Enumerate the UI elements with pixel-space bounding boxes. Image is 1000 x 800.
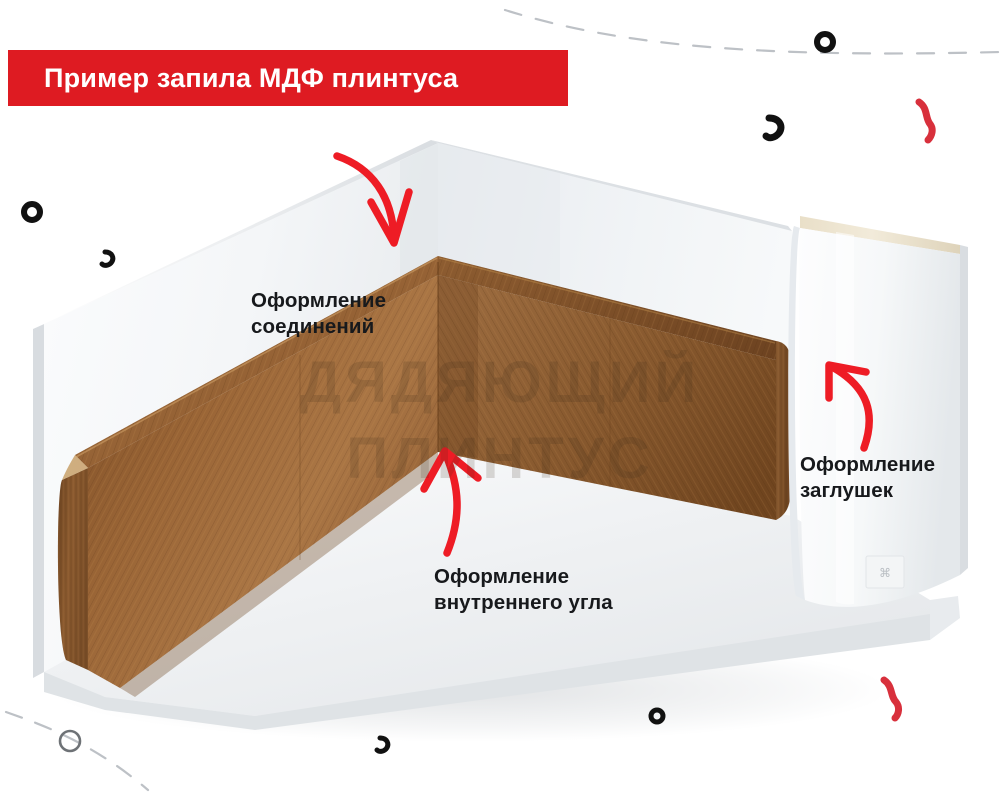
wall-left-thickness <box>33 324 44 678</box>
title-banner-text: Пример запила МДФ плинтуса <box>44 63 458 94</box>
title-banner: Пример запила МДФ плинтуса <box>8 50 568 106</box>
end-cap-sheen <box>836 232 854 604</box>
callout-label-inner-corner: Оформление внутреннего угла <box>434 564 613 615</box>
product-tag-mark: ⌘ <box>879 566 891 580</box>
end-cap-panel: ⌘ <box>788 216 968 607</box>
callout-label-end-cap: Оформление заглушек <box>800 452 935 503</box>
end-cap-face <box>799 228 960 607</box>
plinth-corner-shadow <box>438 275 478 458</box>
plinth-right-end-grain <box>776 341 790 520</box>
infographic-canvas: ⌘ ДЯДЯЮЩИЙ ПЛИНТУС Пример запи <box>0 0 1000 800</box>
plinth-corner-illustration: ⌘ <box>0 0 1000 800</box>
end-cap-right-edge <box>960 245 968 575</box>
callout-label-joints: Оформление соединений <box>251 288 386 339</box>
floor-right-corner <box>930 596 960 640</box>
plinth-left-end-grain <box>58 468 88 670</box>
